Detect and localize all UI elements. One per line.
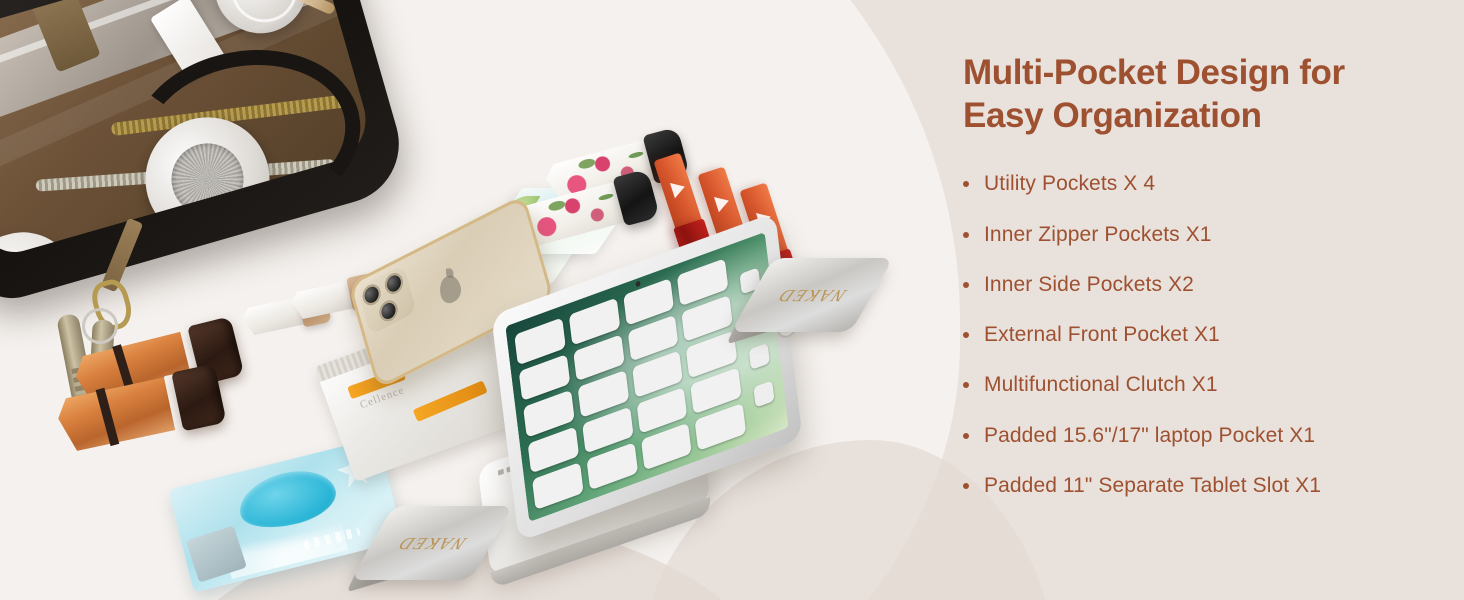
product-photo-collage: Cellence [0, 0, 900, 600]
list-item-label: Padded 15.6"/17" laptop Pocket X1 [984, 423, 1315, 449]
bullet-dot-icon [963, 181, 969, 187]
headline-line-2: Easy Organization [963, 96, 1262, 135]
headline-line-1: Multi-Pocket Design for [963, 53, 1345, 92]
dock-app-icon [749, 342, 770, 369]
led-indicator [198, 250, 214, 260]
tint-body [653, 152, 702, 231]
bullet-dot-icon [963, 382, 969, 388]
list-item-label: Inner Side Pockets X2 [984, 272, 1194, 298]
list-item-label: Padded 11" Separate Tablet Slot X1 [984, 473, 1321, 499]
page-title: Multi-Pocket Design for Easy Organizatio… [963, 52, 1433, 137]
list-item: Utility Pockets X 4 [963, 171, 1433, 197]
naked-metal-tin: NAKED [752, 258, 872, 332]
camera-lens-icon [383, 270, 405, 297]
apple-logo-icon [437, 271, 464, 306]
front-camera-icon [635, 281, 640, 288]
list-item-label: Utility Pockets X 4 [984, 171, 1155, 197]
camera-module-icon [357, 265, 417, 336]
list-item: Inner Side Pockets X2 [963, 272, 1433, 298]
list-item-label: Multifunctional Clutch X1 [984, 372, 1218, 398]
naked-brand-text: NAKED [731, 258, 894, 332]
sachet-orange-band [413, 380, 488, 422]
naked-metal-tin: NAKED [372, 506, 492, 580]
list-item: Padded 15.6"/17" laptop Pocket X1 [963, 423, 1433, 449]
bullet-dot-icon [963, 433, 969, 439]
bullet-dot-icon [963, 232, 969, 238]
naked-brand-text: NAKED [351, 506, 514, 580]
feature-copy-block: Multi-Pocket Design for Easy Organizatio… [963, 52, 1433, 523]
list-item: Padded 11" Separate Tablet Slot X1 [963, 473, 1433, 499]
tablet-app-grid [514, 258, 746, 510]
bullet-dot-icon [963, 282, 969, 288]
dock-app-icon [753, 380, 774, 407]
list-item-label: External Front Pocket X1 [984, 322, 1220, 348]
list-item: Inner Zipper Pockets X1 [963, 222, 1433, 248]
list-item: External Front Pocket X1 [963, 322, 1433, 348]
feature-list: Utility Pockets X 4 Inner Zipper Pockets… [963, 171, 1433, 499]
camera-lens-icon [377, 297, 399, 324]
key-ring-icon [82, 308, 118, 344]
product-feature-banner: Cellence [0, 0, 1464, 600]
list-item-label: Inner Zipper Pockets X1 [984, 222, 1212, 248]
tube-body [290, 280, 356, 320]
camera-lens-icon [361, 281, 383, 308]
bullet-dot-icon [963, 332, 969, 338]
bullet-dot-icon [963, 483, 969, 489]
list-item: Multifunctional Clutch X1 [963, 372, 1433, 398]
